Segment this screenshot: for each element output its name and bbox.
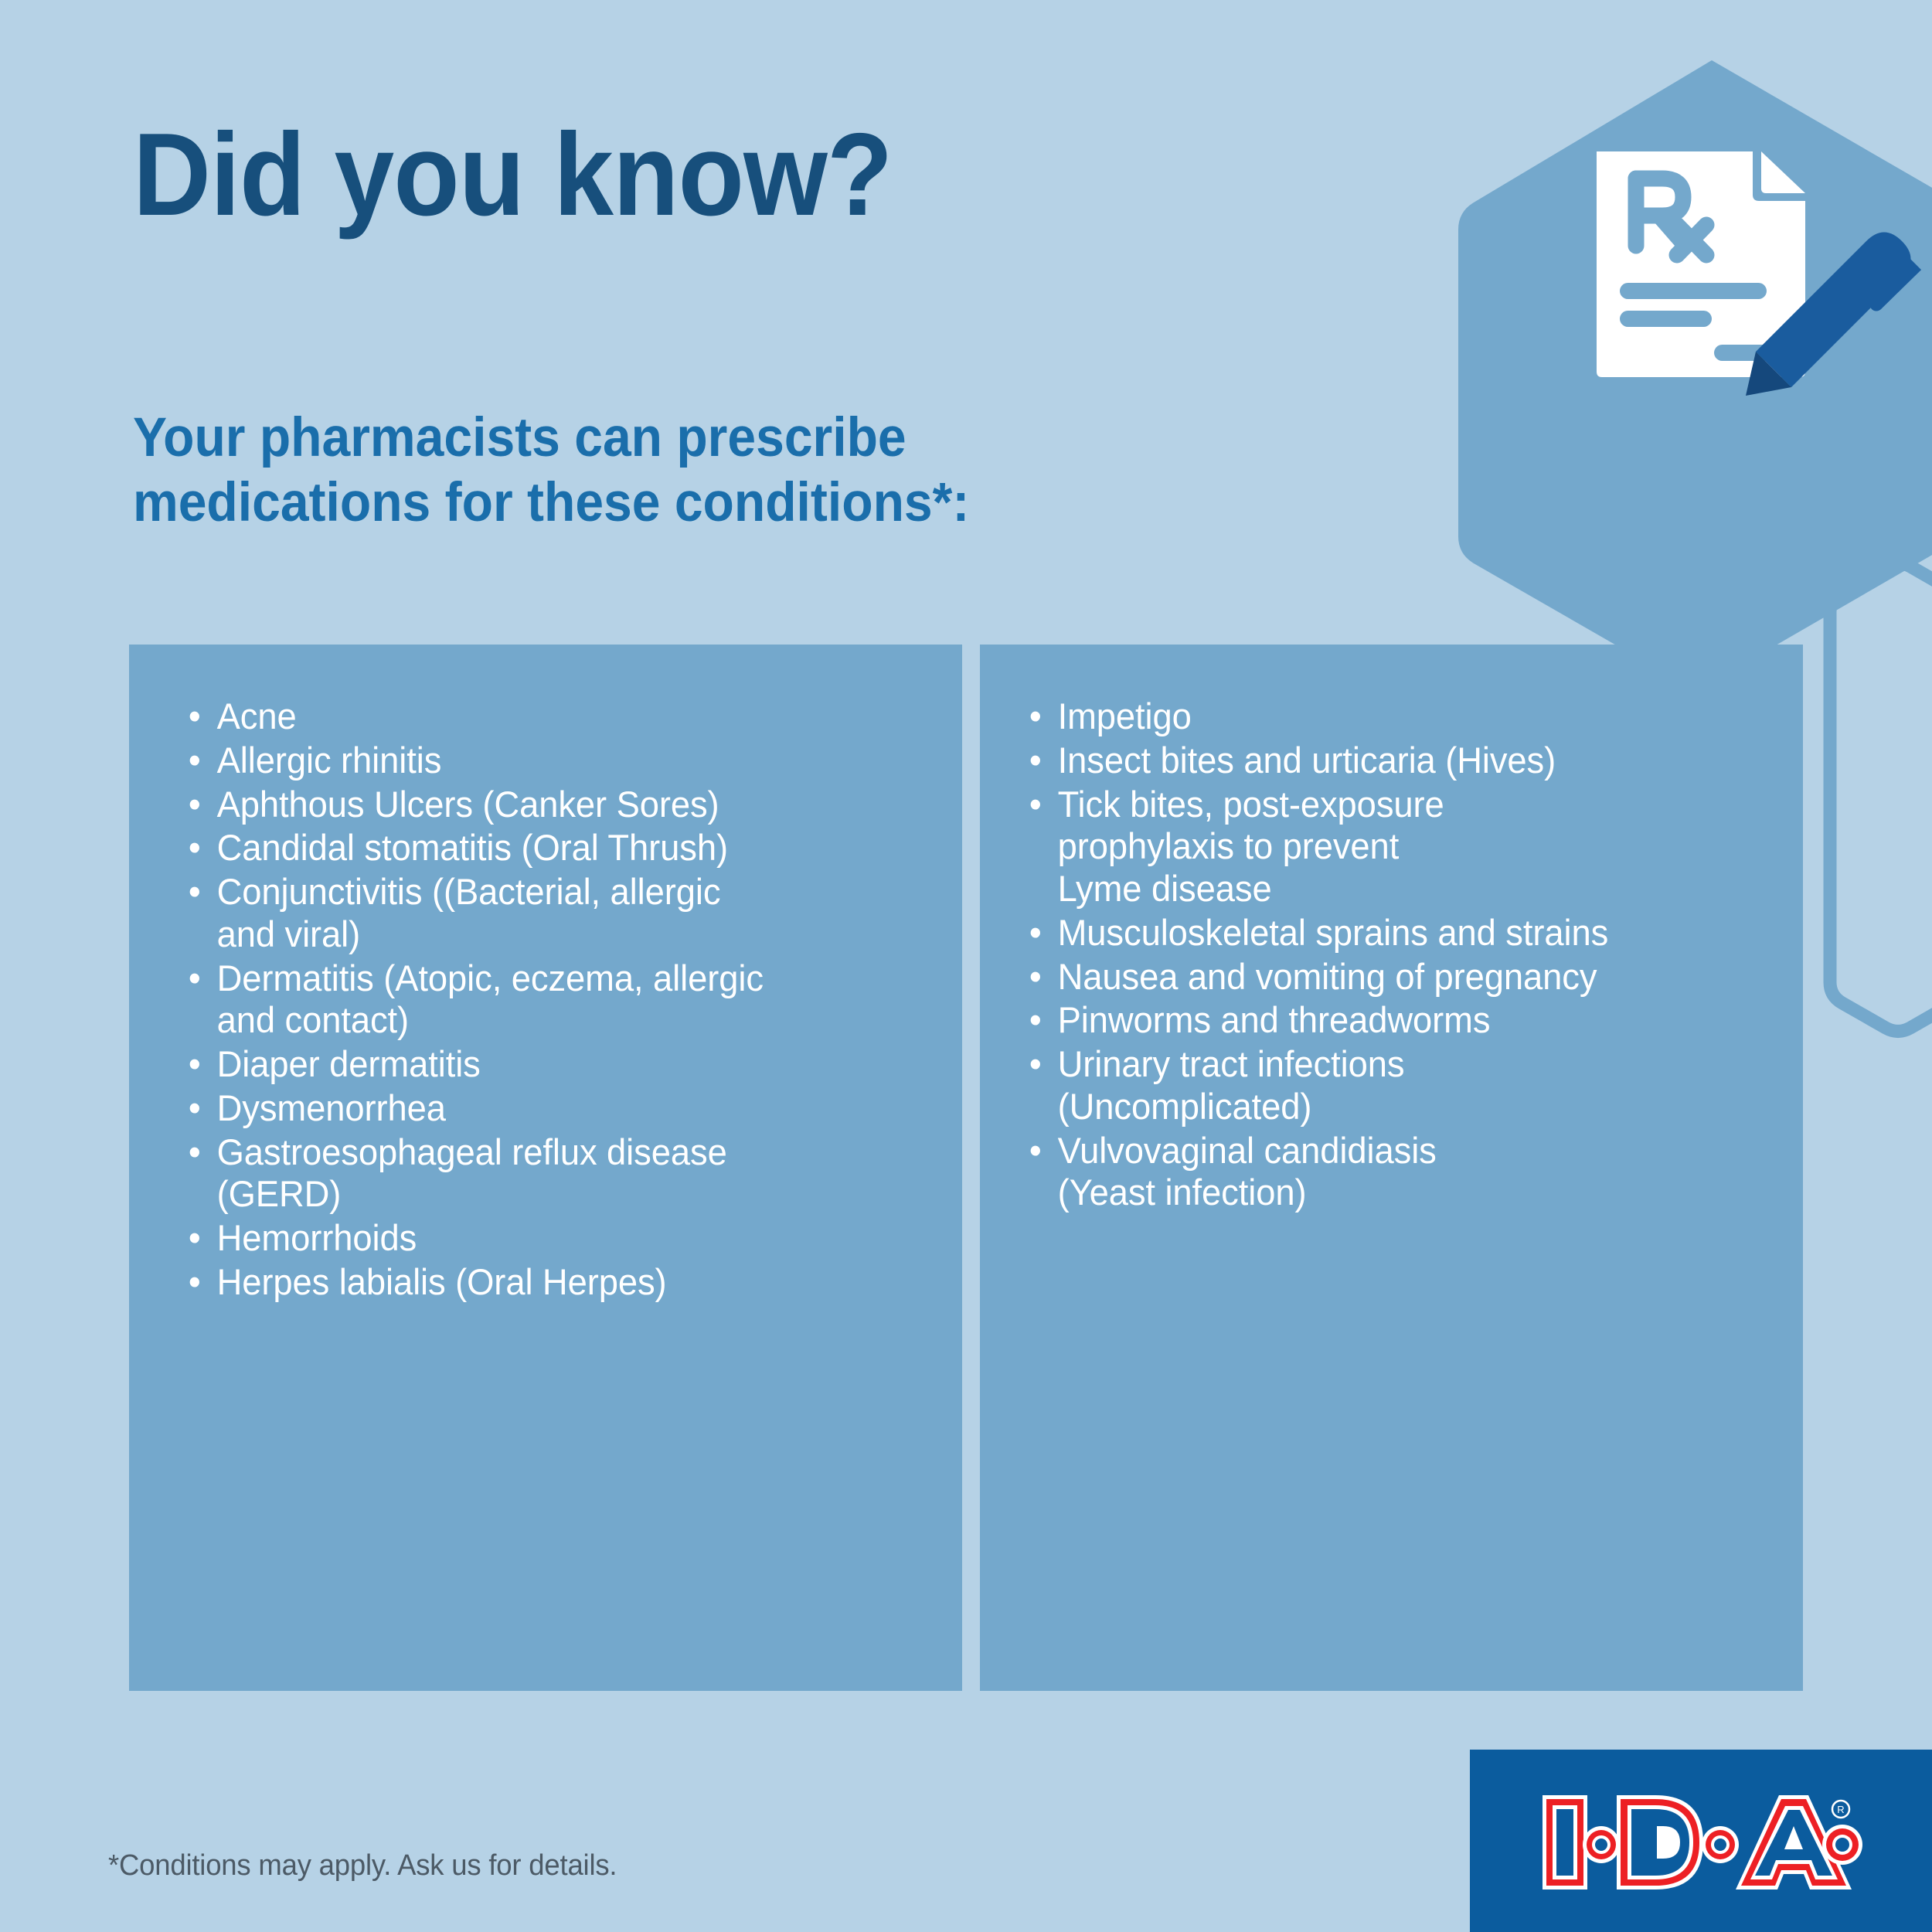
- rx-symbol-glyph: [1636, 179, 1706, 255]
- condition-list-item: •Diaper dermatitis: [187, 1043, 905, 1086]
- condition-label-line: (Yeast infection): [1058, 1172, 1747, 1214]
- condition-list-item: •Tick bites, post-exposureprophylaxis to…: [1028, 784, 1746, 910]
- condition-label-line: Diaper dermatitis: [217, 1043, 906, 1086]
- outline-hexagon-decor: [1830, 563, 1932, 1032]
- filled-hexagon-shape: [1458, 60, 1932, 687]
- pencil-clip: [1876, 255, 1912, 304]
- bullet-icon: •: [1029, 740, 1042, 782]
- condition-label-line: (GERD): [217, 1173, 906, 1216]
- condition-list-item: •Urinary tract infections(Uncomplicated): [1028, 1043, 1746, 1128]
- bullet-icon: •: [1029, 912, 1042, 954]
- condition-label: Tick bites, post-exposureprophylaxis to …: [1058, 784, 1747, 910]
- bullet-icon: •: [189, 1261, 201, 1304]
- condition-label: Diaper dermatitis: [217, 1043, 906, 1086]
- conditions-list-left: •Acne•Allergic rhinitis•Aphthous Ulcers …: [129, 645, 962, 1304]
- condition-list-item: •Impetigo: [1028, 696, 1746, 738]
- condition-label: Vulvovaginal candidiasis(Yeast infection…: [1058, 1130, 1747, 1215]
- conditions-panel-left: •Acne•Allergic rhinitis•Aphthous Ulcers …: [129, 645, 962, 1691]
- condition-list-item: •Vulvovaginal candidiasis(Yeast infectio…: [1028, 1130, 1746, 1215]
- rx-line-2: [1620, 311, 1712, 327]
- subtitle-line-2: medications for these conditions*:: [133, 471, 1283, 536]
- condition-list-item: •Pinworms and threadworms: [1028, 999, 1746, 1042]
- condition-label: Candidal stomatitis (Oral Thrush): [217, 827, 906, 869]
- condition-label: Acne: [217, 696, 906, 738]
- condition-label-line: and viral): [217, 913, 906, 956]
- condition-label-line: Acne: [217, 696, 906, 738]
- condition-label-line: Musculoskeletal sprains and strains: [1058, 912, 1747, 954]
- condition-label: Herpes labialis (Oral Herpes): [217, 1261, 906, 1304]
- condition-label: Musculoskeletal sprains and strains: [1058, 912, 1747, 954]
- bullet-icon: •: [189, 957, 201, 1000]
- condition-label-line: prophylaxis to prevent: [1058, 825, 1747, 868]
- condition-list-item: •Allergic rhinitis: [187, 740, 905, 782]
- bullet-icon: •: [1029, 1043, 1042, 1086]
- registered-trademark-icon: R: [1832, 1801, 1849, 1818]
- condition-label-line: Impetigo: [1058, 696, 1747, 738]
- bullet-icon: •: [1029, 696, 1042, 738]
- conditions-list-right: •Impetigo•Insect bites and urticaria (Hi…: [980, 645, 1803, 1214]
- condition-label: Urinary tract infections(Uncomplicated): [1058, 1043, 1747, 1128]
- bullet-icon: •: [189, 1131, 201, 1174]
- condition-list-item: •Insect bites and urticaria (Hives): [1028, 740, 1746, 782]
- condition-label: Impetigo: [1058, 696, 1747, 738]
- bullet-icon: •: [1029, 1130, 1042, 1172]
- condition-label-line: Lyme disease: [1058, 868, 1747, 910]
- condition-list-item: •Hemorrhoids: [187, 1217, 905, 1260]
- pencil-icon: [1746, 233, 1912, 396]
- condition-label-line: Dermatitis (Atopic, eczema, allergic: [217, 957, 906, 1000]
- condition-label-line: Hemorrhoids: [217, 1217, 906, 1260]
- page-subtitle: Your pharmacists can prescribe medicatio…: [133, 406, 1283, 536]
- bullet-icon: •: [1029, 999, 1042, 1042]
- condition-label-line: Vulvovaginal candidiasis: [1058, 1130, 1747, 1172]
- condition-label: Allergic rhinitis: [217, 740, 906, 782]
- condition-label-line: Allergic rhinitis: [217, 740, 906, 782]
- condition-label-line: Gastroesophageal reflux disease: [217, 1131, 906, 1174]
- condition-label-line: (Uncomplicated): [1058, 1086, 1747, 1128]
- condition-label-line: Pinworms and threadworms: [1058, 999, 1747, 1042]
- condition-label: Dermatitis (Atopic, eczema, allergicand …: [217, 957, 906, 1043]
- condition-list-item: •Herpes labialis (Oral Herpes): [187, 1261, 905, 1304]
- condition-list-item: •Aphthous Ulcers (Canker Sores): [187, 784, 905, 826]
- condition-label: Dysmenorrhea: [217, 1087, 906, 1130]
- condition-label-line: Tick bites, post-exposure: [1058, 784, 1747, 826]
- subtitle-line-1: Your pharmacists can prescribe: [133, 406, 1283, 471]
- condition-label-line: Conjunctivitis ((Bacterial, allergic: [217, 871, 906, 913]
- condition-list-item: •Dermatitis (Atopic, eczema, allergicand…: [187, 957, 905, 1043]
- condition-label-line: and contact): [217, 999, 906, 1042]
- bullet-icon: •: [189, 871, 201, 913]
- bullet-icon: •: [189, 1087, 201, 1130]
- ida-logo-letters: [1543, 1795, 1862, 1889]
- bullet-icon: •: [1029, 784, 1042, 826]
- condition-list-item: •Nausea and vomiting of pregnancy: [1028, 956, 1746, 998]
- condition-label: Insect bites and urticaria (Hives): [1058, 740, 1747, 782]
- rx-paper-shape: [1597, 151, 1805, 377]
- condition-list-item: •Conjunctivitis ((Bacterial, allergicand…: [187, 871, 905, 956]
- pencil-body: [1756, 233, 1911, 388]
- bullet-icon: •: [1029, 956, 1042, 998]
- condition-label: Hemorrhoids: [217, 1217, 906, 1260]
- ida-logo-block: R: [1470, 1750, 1932, 1932]
- bullet-icon: •: [189, 784, 201, 826]
- svg-text:R: R: [1837, 1804, 1844, 1815]
- rx-signature-line: [1714, 345, 1777, 361]
- condition-label-line: Herpes labialis (Oral Herpes): [217, 1261, 906, 1304]
- pencil-tip: [1746, 352, 1791, 396]
- condition-list-item: •Candidal stomatitis (Oral Thrush): [187, 827, 905, 869]
- condition-label-line: Candidal stomatitis (Oral Thrush): [217, 827, 906, 869]
- condition-label-line: Nausea and vomiting of pregnancy: [1058, 956, 1747, 998]
- page-title: Did you know?: [133, 116, 1199, 233]
- condition-label: Pinworms and threadworms: [1058, 999, 1747, 1042]
- bullet-icon: •: [189, 1217, 201, 1260]
- prescription-document-pencil-icon: [1597, 151, 1912, 396]
- condition-label: Aphthous Ulcers (Canker Sores): [217, 784, 906, 826]
- bullet-icon: •: [189, 827, 201, 869]
- condition-list-item: •Gastroesophageal reflux disease(GERD): [187, 1131, 905, 1216]
- condition-label-line: Dysmenorrhea: [217, 1087, 906, 1130]
- rx-line-1: [1620, 283, 1767, 299]
- condition-label: Nausea and vomiting of pregnancy: [1058, 956, 1747, 998]
- condition-label-line: Insect bites and urticaria (Hives): [1058, 740, 1747, 782]
- condition-label-line: Urinary tract infections: [1058, 1043, 1747, 1086]
- footnote-disclaimer: *Conditions may apply. Ask us for detail…: [108, 1849, 617, 1883]
- conditions-panel-right: •Impetigo•Insect bites and urticaria (Hi…: [980, 645, 1803, 1691]
- bullet-icon: •: [189, 1043, 201, 1086]
- condition-list-item: •Musculoskeletal sprains and strains: [1028, 912, 1746, 954]
- bullet-icon: •: [189, 696, 201, 738]
- condition-list-item: •Acne: [187, 696, 905, 738]
- ida-logo-mark: R: [1539, 1792, 1864, 1893]
- rx-paper-fold: [1761, 151, 1805, 193]
- condition-label-line: Aphthous Ulcers (Canker Sores): [217, 784, 906, 826]
- condition-list-item: •Dysmenorrhea: [187, 1087, 905, 1130]
- condition-label: Gastroesophageal reflux disease(GERD): [217, 1131, 906, 1216]
- bullet-icon: •: [189, 740, 201, 782]
- condition-label: Conjunctivitis ((Bacterial, allergicand …: [217, 871, 906, 956]
